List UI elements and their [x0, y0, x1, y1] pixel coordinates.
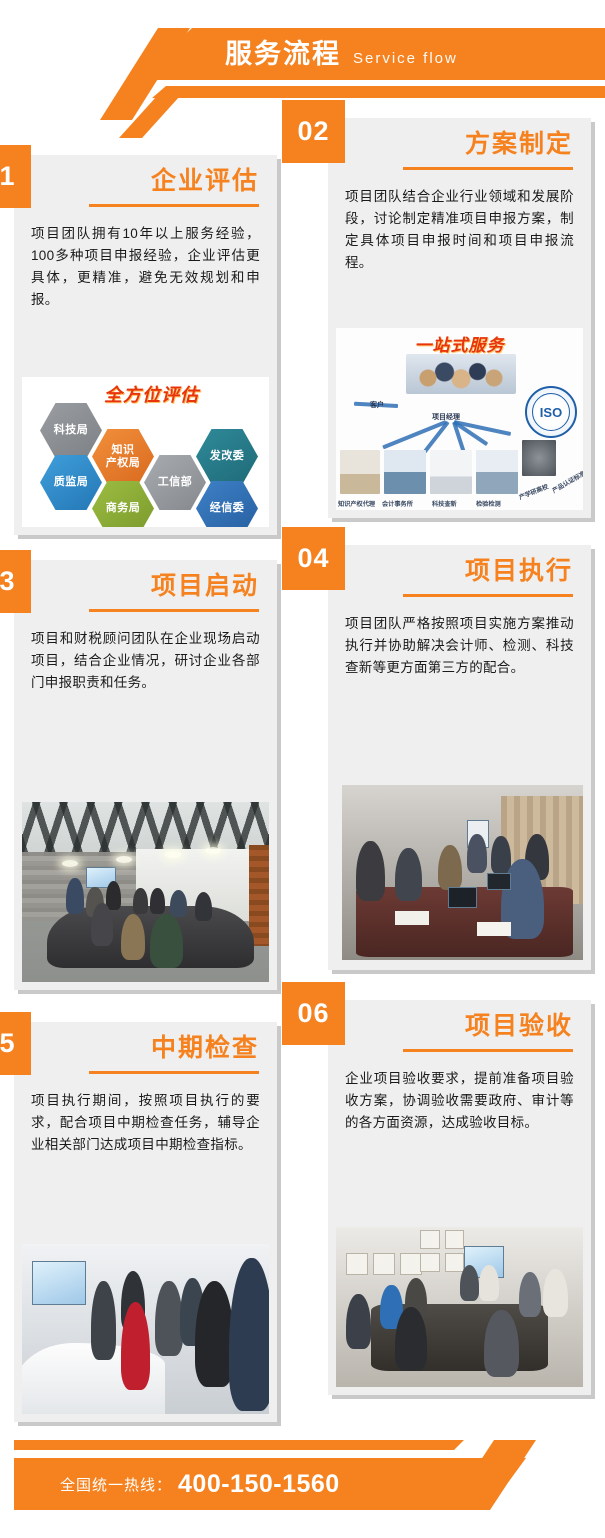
hotline-number[interactable]: 400-150-1560	[178, 1470, 340, 1499]
laptop	[487, 873, 511, 891]
wall-certificate	[445, 1230, 465, 1249]
service-thumb-documents	[430, 450, 472, 494]
service-thumb-equipment	[522, 440, 556, 476]
hexagon-gongxin-bu: 工信部	[144, 455, 206, 510]
step-card-04[interactable]: 04 项目执行 项目团队严格按照项目实施方案推动执行并协助解决会计师、检测、科技…	[328, 545, 591, 970]
step-card-01[interactable]: 01 企业评估 项目团队拥有10年以上服务经验，100多种项目申报经验，企业评估…	[14, 155, 277, 535]
step-number-badge: 05	[0, 1012, 31, 1075]
hexagon-label: 商务局	[106, 502, 141, 515]
step-number-badge: 01	[0, 145, 31, 208]
page-footer: 全国统一热线： 400-150-1560	[0, 1440, 605, 1538]
midterm-inspection-photo	[22, 1244, 269, 1414]
step-description: 项目执行期间，按照项目执行的要求，配合项目中期检查任务，辅导企业相关部门达成项目…	[14, 1074, 277, 1168]
one-stop-service-figure: 一站式服务 客户 项目经理 ISO 知识产权代理 会计事务所 科技查新 检验检测…	[336, 328, 583, 510]
hexagon-label: 质监局	[54, 476, 89, 489]
step-description: 企业项目验收要求，提前准备项目验收方案，协调验收需要政府、审计等的各方面资源，达…	[328, 1052, 591, 1146]
service-caption: 检验检测	[476, 499, 501, 508]
hexagon-fagai-wei: 发改委	[196, 429, 258, 484]
one-stop-service-title: 一站式服务	[415, 331, 505, 356]
assessment-hexagon-figure: 全方位评估 科技局 知识 产权局 质监局 工信部 商务局 发改委 经信委	[22, 377, 269, 527]
hexagon-zhijian-ju: 质监局	[40, 455, 102, 510]
project-kickoff-photo	[22, 802, 269, 982]
wood-column	[249, 845, 269, 946]
hexagon-figure-title: 全方位评估	[104, 381, 199, 407]
document-papers	[395, 911, 429, 925]
display-monitor	[32, 1261, 86, 1305]
service-caption: 会计事务所	[382, 499, 413, 508]
laptop	[448, 887, 477, 908]
step-title: 项目验收	[328, 1000, 591, 1042]
meeting-photo-thumb	[406, 354, 516, 394]
step-description: 项目和财税顾问团队在企业现场启动项目，结合企业情况，研讨企业各部门申报职责和任务…	[14, 612, 277, 706]
step-card-02[interactable]: 02 方案制定 项目团队结合企业行业领域和发展阶段，讨论制定精准项目申报方案，制…	[328, 118, 591, 518]
header-underline-bar	[152, 86, 605, 98]
step-title: 项目启动	[14, 560, 277, 602]
document-papers	[477, 922, 511, 936]
service-thumb-office	[384, 450, 426, 494]
step-description: 项目团队结合企业行业领域和发展阶段，讨论制定精准项目申报方案，制定具体项目申报时…	[328, 170, 591, 285]
wall-certificate	[445, 1253, 465, 1272]
iso-certification-seal: ISO	[525, 386, 577, 438]
step-number-badge: 04	[282, 527, 345, 590]
service-caption: 科技查新	[432, 499, 457, 508]
wall-certificate	[420, 1230, 440, 1249]
node-label-manager: 项目经理	[432, 412, 460, 422]
step-title: 企业评估	[14, 155, 277, 197]
hexagon-label: 发改委	[210, 450, 245, 463]
step-number-badge: 06	[282, 982, 345, 1045]
hexagon-label: 科技局	[54, 424, 89, 437]
hexagon-label: 工信部	[158, 476, 193, 489]
footer-accent-rule	[14, 1440, 464, 1450]
page-title: 服务流程	[225, 36, 341, 72]
step-number-badge: 02	[282, 100, 345, 163]
hexagon-zhishi-chanquan-ju: 知识 产权局	[92, 429, 154, 484]
service-caption: 知识产权代理	[338, 499, 375, 508]
hotline-group: 全国统一热线： 400-150-1560	[60, 1458, 340, 1510]
wall-certificate	[373, 1253, 395, 1275]
hexagon-label: 知识 产权局	[106, 444, 141, 469]
step-title: 方案制定	[328, 118, 591, 160]
hexagon-label: 经信委	[210, 502, 245, 515]
page-subtitle: Service flow	[353, 50, 458, 67]
seal-label: ISO	[540, 405, 562, 420]
step-title: 项目执行	[328, 545, 591, 587]
step-description: 项目团队严格按照项目实施方案推动执行并协助解决会计师、检测、科技查新等更方面第三…	[328, 597, 591, 691]
step-card-03[interactable]: 03 项目启动 项目和财税顾问团队在企业现场启动项目，结合企业情况，研讨企业各部…	[14, 560, 277, 990]
step-title: 中期检查	[14, 1022, 277, 1064]
node-label-customer: 客户	[370, 400, 384, 410]
service-thumb-lab	[476, 450, 518, 494]
step-card-05[interactable]: 05 中期检查 项目执行期间，按照项目执行的要求，配合项目中期检查任务，辅导企业…	[14, 1022, 277, 1422]
step-card-06[interactable]: 06 项目验收 企业项目验收要求，提前准备项目验收方案，协调验收需要政府、审计等…	[328, 1000, 591, 1395]
project-execution-photo	[342, 785, 583, 960]
hexagon-jingxin-wei: 经信委	[196, 481, 258, 527]
hexagon-keji-ju: 科技局	[40, 403, 102, 458]
hexagon-shangwu-ju: 商务局	[92, 481, 154, 527]
infographic-page: 服务流程 Service flow 01 企业评估 项目团队拥有10年以上服务经…	[0, 0, 605, 1538]
wall-certificate	[420, 1253, 440, 1272]
service-thumb-books	[340, 450, 380, 494]
hotline-label: 全国统一热线：	[60, 1474, 172, 1495]
service-caption: 产学研高校	[517, 482, 549, 502]
project-acceptance-photo	[336, 1227, 583, 1387]
header-title-group: 服务流程 Service flow	[225, 36, 458, 72]
step-number-badge: 03	[0, 550, 31, 613]
wall-certificate	[346, 1253, 368, 1275]
step-description: 项目团队拥有10年以上服务经验，100多种项目申报经验，企业评估更具体，更精准，…	[14, 207, 277, 322]
